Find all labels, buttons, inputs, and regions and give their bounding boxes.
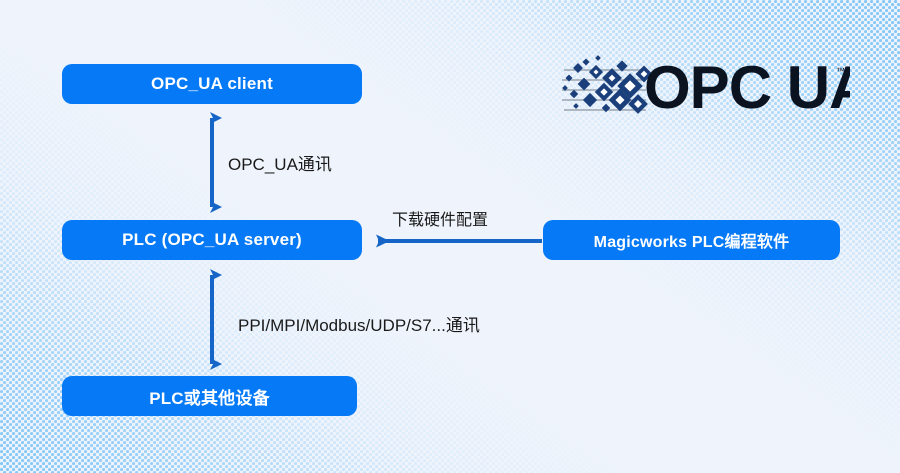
connector-label-download: 下载硬件配置 (392, 206, 488, 230)
node-label: PLC或其他设备 (149, 384, 270, 409)
node-plc-opc-ua-server[interactable]: PLC (OPC_UA server) (62, 220, 362, 260)
node-opc-ua-client[interactable]: OPC_UA client (62, 64, 362, 104)
connector-label-opcua: OPC_UA通讯 (228, 150, 332, 175)
logo-wordmark: OPC UA (644, 54, 850, 120)
opc-ua-logo: OPC UA ™ (560, 48, 850, 120)
logo-trademark: ™ (836, 66, 845, 76)
node-label: Magicworks PLC编程软件 (594, 228, 790, 252)
node-magicworks-plc-software[interactable]: Magicworks PLC编程软件 (543, 220, 840, 260)
node-plc-or-other-device[interactable]: PLC或其他设备 (62, 376, 357, 416)
connector-label-fieldbus: PPI/MPI/Modbus/UDP/S7...通讯 (238, 311, 480, 336)
node-label: OPC_UA client (151, 74, 273, 94)
node-label: PLC (OPC_UA server) (122, 230, 302, 250)
diagram-canvas: OPC_UA client PLC (OPC_UA server) PLC或其他… (0, 0, 900, 473)
